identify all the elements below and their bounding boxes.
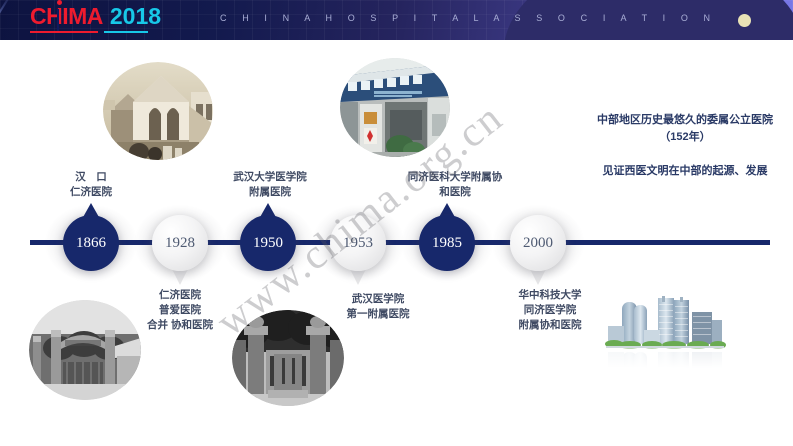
- photo-campus-gate-avenue-bw: [232, 310, 344, 406]
- pin-year-1928: 1928: [165, 236, 195, 251]
- pin-bulb-1953: 1953: [330, 215, 386, 271]
- pin-year-1866: 1866: [76, 236, 106, 251]
- moon-icon: [738, 14, 751, 27]
- pin-year-1950: 1950: [253, 236, 283, 251]
- pin-bulb-1950: 1950: [240, 215, 296, 271]
- highlight-line-2: 见证西医文明在中部的起源、发展: [585, 163, 785, 180]
- chima-logo: CHIMA 2018: [30, 5, 161, 28]
- logo-year-text: 2018: [110, 5, 161, 28]
- milestone-label-1950: 武汉大学医学院 附属医院: [210, 170, 330, 200]
- logo-underline-cyan: [104, 31, 148, 33]
- milestone-label-1953: 武汉医学院 第一附属医院: [318, 292, 438, 322]
- logo-i-dot: [57, 0, 62, 5]
- timeline-pin-1866[interactable]: 1866: [63, 215, 119, 271]
- pin-bulb-1928: 1928: [152, 215, 208, 271]
- pin-bulb-1866: 1866: [63, 215, 119, 271]
- pin-bulb-1985: 1985: [419, 215, 475, 271]
- pin-year-1953: 1953: [343, 236, 373, 251]
- association-title: C H I N A H O S P I T A L A S S O C I A …: [220, 13, 717, 23]
- pin-year-2000: 2000: [523, 236, 553, 251]
- milestone-label-1928: 仁济医院 普爱医院 合并 协和医院: [120, 288, 240, 333]
- logo-brand-text: CHIMA: [30, 5, 103, 28]
- modern-hospital-building-render: [600, 296, 750, 368]
- pin-bulb-2000: 2000: [510, 215, 566, 271]
- milestone-label-1985: 同济医科大学附属协 和医院: [390, 170, 520, 200]
- timeline-pin-1953[interactable]: 1953: [330, 215, 386, 271]
- timeline-pin-2000[interactable]: 2000: [510, 215, 566, 271]
- highlight-line-1: 中部地区历史最悠久的委属公立医院（152年）: [585, 112, 785, 146]
- pin-year-1985: 1985: [432, 236, 462, 251]
- photo-hankou-renji-hospital-historic: [103, 62, 213, 160]
- timeline-axis: [30, 240, 770, 245]
- timeline-pin-1985[interactable]: 1985: [419, 215, 475, 271]
- slide-canvas: CHIMA 2018 C H I N A H O S P I T A L A S…: [0, 0, 793, 446]
- highlight-text-block: 中部地区历史最悠久的委属公立医院（152年） 见证西医文明在中部的起源、发展: [585, 112, 785, 180]
- logo-underline-red: [30, 31, 98, 33]
- milestone-label-1866: 汉 口 仁济医院: [31, 170, 151, 200]
- slide-header: CHIMA 2018 C H I N A H O S P I T A L A S…: [0, 0, 793, 40]
- logo-i-stem: [57, 9, 59, 31]
- milestone-label-2000: 华中科技大学 同济医学院 附属协和医院: [490, 288, 610, 333]
- timeline-pin-1950[interactable]: 1950: [240, 215, 296, 271]
- photo-tongji-affiliated-union-hospital-entrance: [340, 58, 450, 157]
- timeline-pin-1928[interactable]: 1928: [152, 215, 208, 271]
